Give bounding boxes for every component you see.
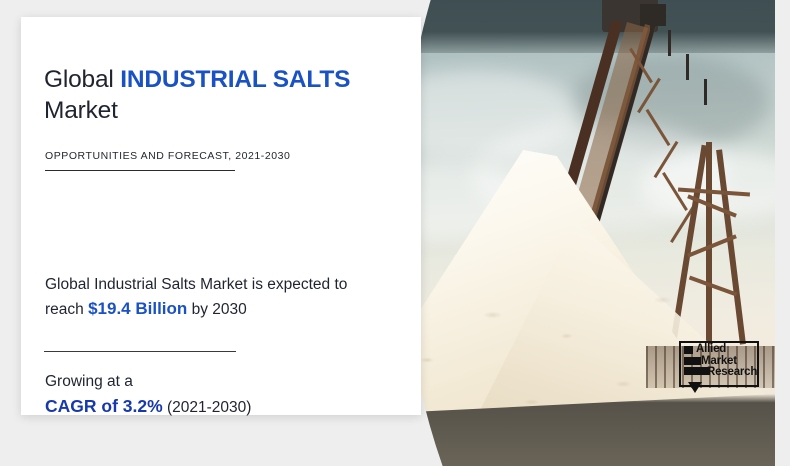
stat-trailing-text: by 2030	[187, 301, 246, 318]
cagr-value: CAGR of 3.2%	[45, 396, 163, 416]
headline-suffix: Market	[44, 97, 118, 124]
market-value-statement: Global Industrial Salts Market is expect…	[45, 273, 355, 322]
headline-emphasis: INDUSTRIAL SALTS	[120, 66, 350, 93]
logo-bar	[684, 346, 693, 354]
logo-wordmark: Allied Market Research	[696, 344, 757, 379]
truss-brace	[646, 109, 671, 146]
page-title: Global INDUSTRIAL SALTS Market	[44, 64, 374, 126]
handrail-post	[668, 30, 671, 56]
headline-prefix: Global	[44, 66, 120, 93]
infographic-banner: Global INDUSTRIAL SALTS Market OPPORTUNI…	[0, 0, 790, 466]
market-value-amount: $19.4 Billion	[88, 299, 187, 318]
divider-bottom	[44, 351, 236, 352]
cagr-period: (2021-2030)	[163, 399, 252, 416]
truss-brace	[654, 141, 679, 178]
cagr-statement: Growing at aCAGR of 3.2% (2021-2030)	[45, 370, 365, 420]
cagr-lead-text: Growing at a	[45, 373, 133, 390]
allied-market-research-logo[interactable]: Allied Market Research	[679, 341, 761, 389]
report-subtitle: OPPORTUNITIES AND FORECAST, 2021-2030	[45, 150, 290, 162]
page-right-margin	[775, 0, 790, 466]
logo-bubble-tail-icon	[688, 382, 702, 393]
handrail-post	[686, 54, 689, 80]
handrail-post	[704, 79, 707, 105]
support-leg	[716, 149, 746, 344]
logo-line-3: Research	[707, 367, 757, 379]
logo-line-1: Allied	[696, 344, 757, 356]
truss-brace	[637, 78, 661, 114]
divider-top	[45, 170, 235, 171]
tower-brace	[689, 276, 737, 297]
handrail-post	[650, 8, 653, 34]
content-card: Global INDUSTRIAL SALTS Market OPPORTUNI…	[21, 17, 421, 415]
